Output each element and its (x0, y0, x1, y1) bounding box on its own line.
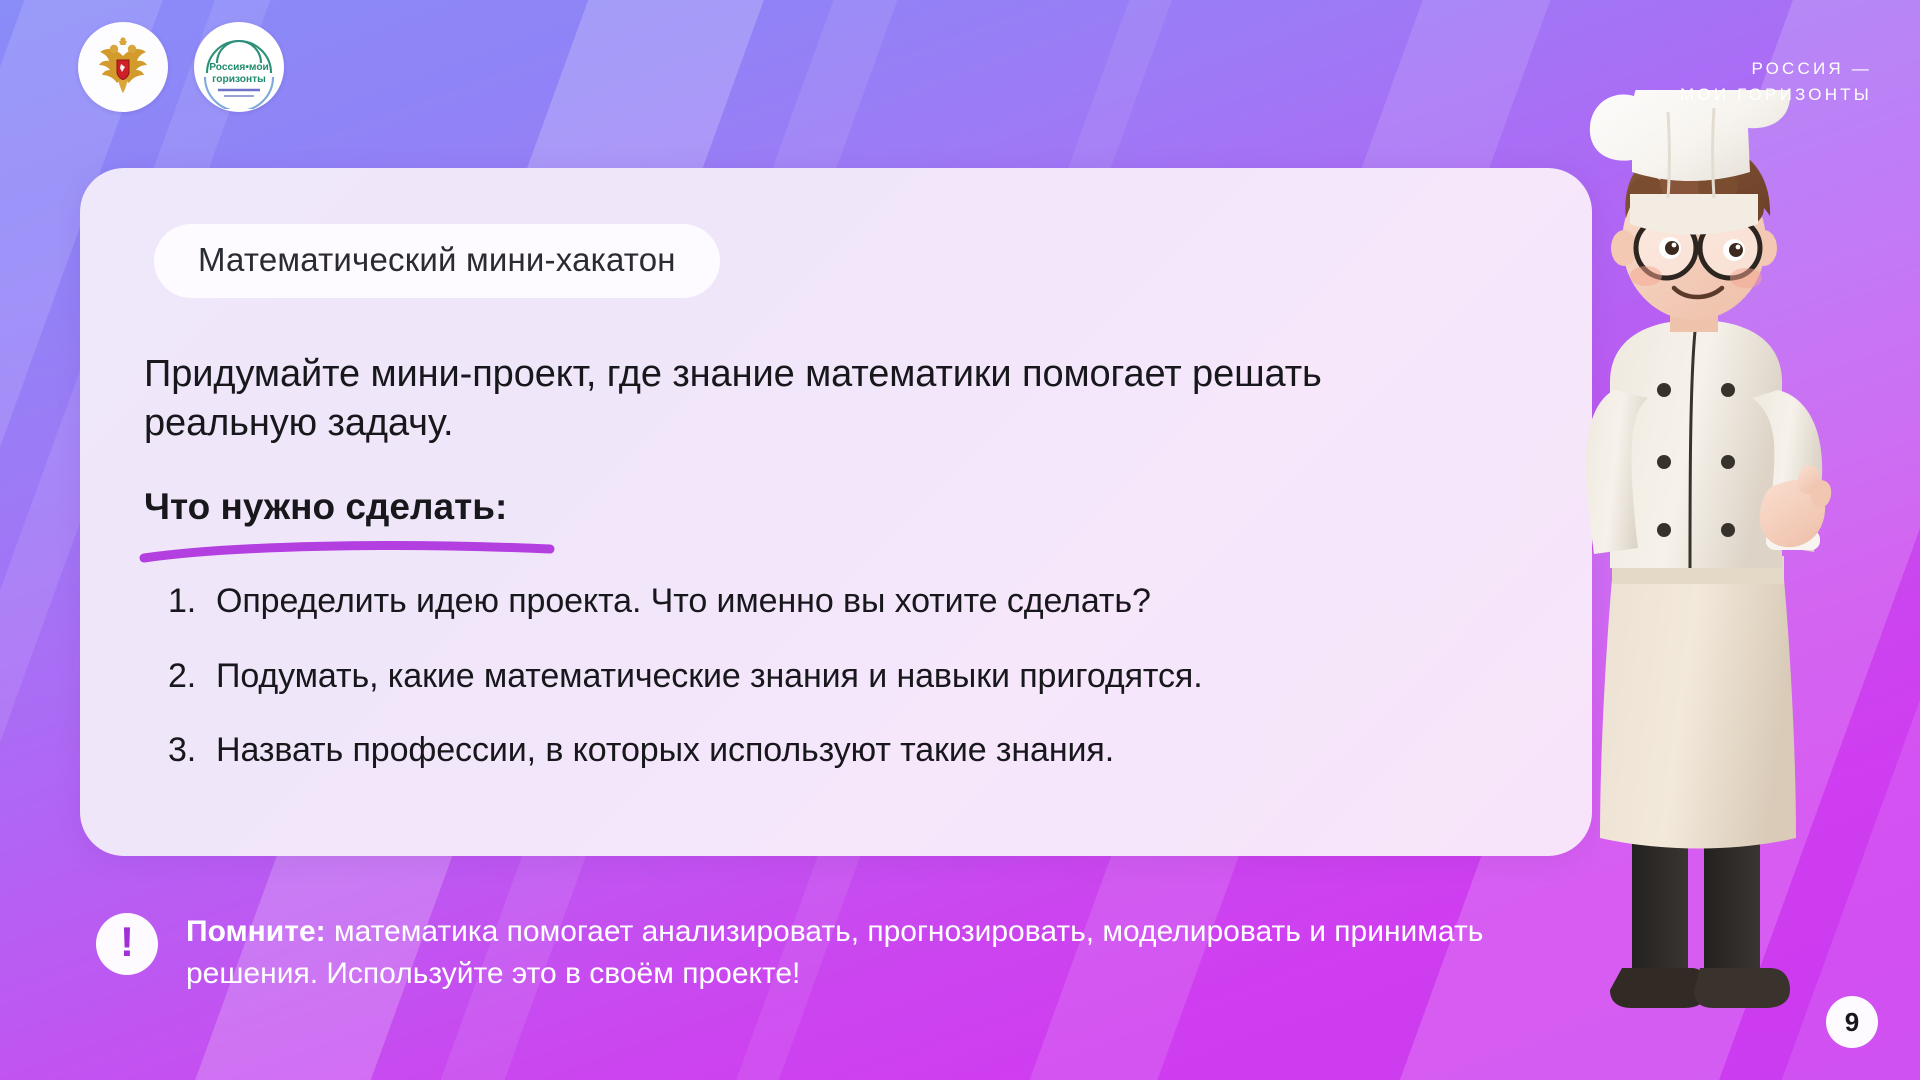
slide-title-pill: Математический мини-хакатон (154, 224, 720, 298)
exclamation-icon: ! (96, 913, 158, 975)
heading-underline (138, 536, 558, 566)
russian-federation-emblem-icon (78, 22, 168, 112)
note-body: математика помогает анализировать, прогн… (186, 915, 1483, 991)
step-number: 1. (168, 580, 216, 623)
intro-paragraph: Придумайте мини-проект, где знание матем… (144, 350, 1474, 447)
section-heading: Что нужно сделать: (144, 486, 507, 528)
steps-list: 1. Определить идею проекта. Что именно в… (168, 580, 1518, 804)
page-number-badge: 9 (1826, 996, 1878, 1048)
brand-title: РОССИЯ — МОИ ГОРИЗОНТЫ (1680, 56, 1872, 107)
content-card: Математический мини-хакатон Придумайте м… (80, 168, 1592, 856)
svg-text:Россия•мои: Россия•мои (209, 62, 269, 73)
svg-text:горизонты: горизонты (212, 74, 266, 85)
list-item: 1. Определить идею проекта. Что именно в… (168, 580, 1518, 623)
program-logo-icon: Россия•мои горизонты (194, 22, 284, 112)
chef-character-illustration (1482, 90, 1902, 1080)
step-text: Назвать профессии, в которых используют … (216, 729, 1518, 772)
slide: Россия•мои горизонты РОССИЯ — МОИ ГОРИЗО… (0, 0, 1920, 1080)
brand-line-2: МОИ ГОРИЗОНТЫ (1680, 82, 1872, 108)
list-item: 2. Подумать, какие математические знания… (168, 655, 1518, 698)
note-text: Помните: математика помогает анализирова… (186, 909, 1516, 996)
note-lead: Помните: (186, 915, 326, 948)
exclamation-glyph: ! (120, 921, 134, 963)
step-text: Определить идею проекта. Что именно вы х… (216, 580, 1518, 623)
brand-line-1: РОССИЯ — (1680, 56, 1872, 82)
step-number: 2. (168, 655, 216, 698)
remember-note: ! Помните: математика помогает анализиро… (96, 909, 1516, 996)
step-text: Подумать, какие математические знания и … (216, 655, 1518, 698)
step-number: 3. (168, 729, 216, 772)
header-logos: Россия•мои горизонты (78, 22, 284, 112)
list-item: 3. Назвать профессии, в которых использу… (168, 729, 1518, 772)
